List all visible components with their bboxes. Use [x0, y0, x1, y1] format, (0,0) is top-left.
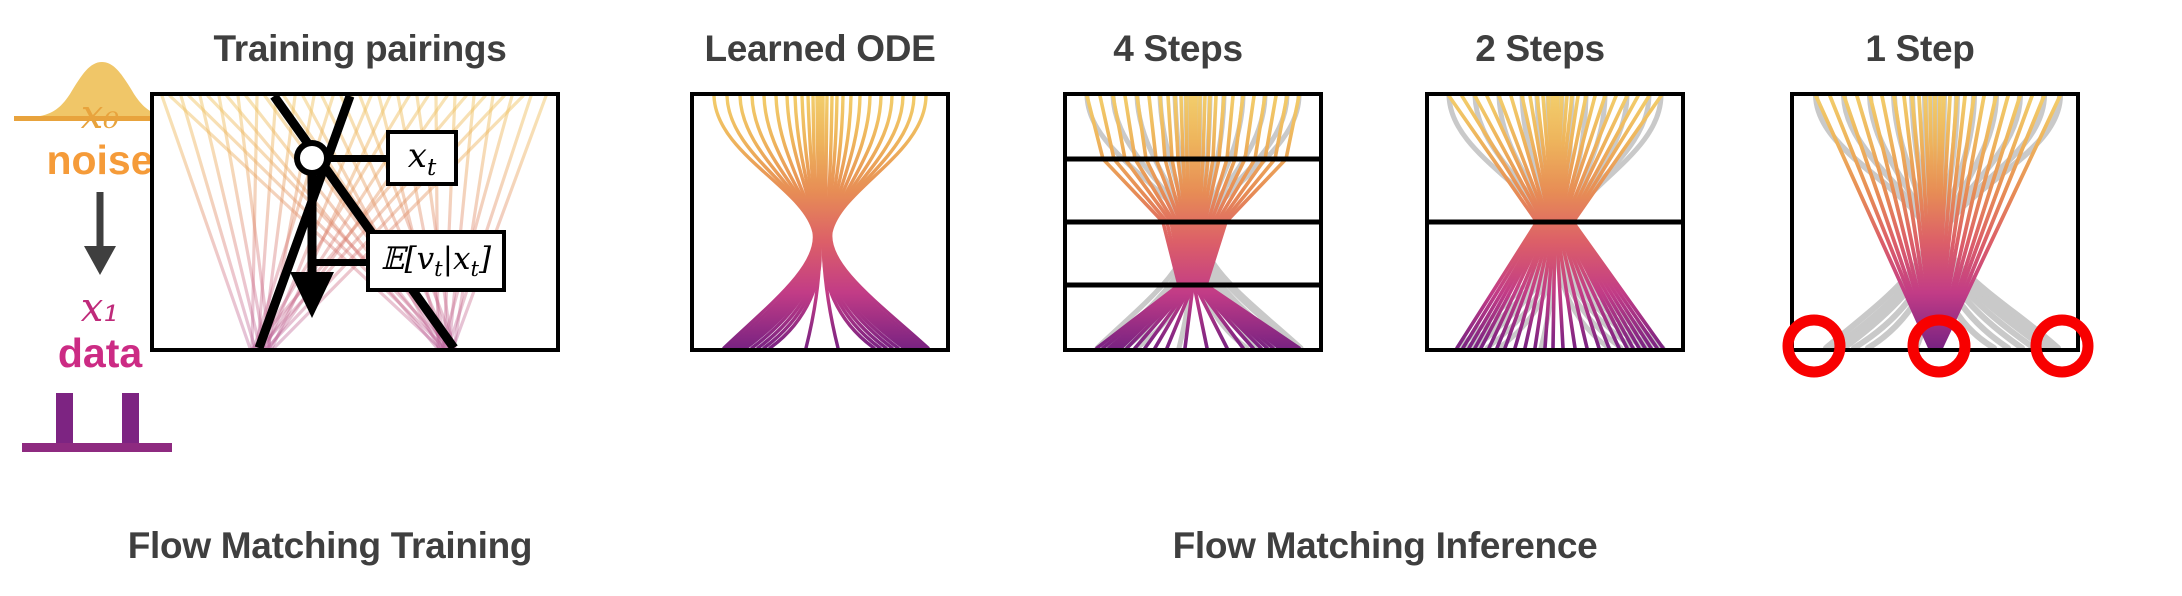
one-step-title: 1 Step — [1790, 28, 2050, 70]
two-mode-data-histogram — [12, 385, 192, 455]
xt-node-marker — [297, 143, 327, 173]
four-steps-title: 4 Steps — [1063, 28, 1293, 70]
learned-ode-plot — [690, 92, 950, 352]
xt-annotation-box: 𝑥𝑡 — [386, 130, 458, 186]
velocity-annotation-text: 𝔼[𝑣𝑡|𝑥𝑡] — [381, 241, 491, 281]
two-steps-plot — [1425, 92, 1685, 352]
red-circle-left-mode — [1788, 320, 1840, 372]
inference-section-caption: Flow Matching Inference — [690, 525, 2080, 567]
xt-connector-line — [324, 155, 390, 162]
two-steps-svg — [1429, 96, 1681, 348]
two-steps-title: 2 Steps — [1425, 28, 1655, 70]
four-steps-svg — [1067, 96, 1319, 348]
learned-ode-svg — [694, 96, 946, 348]
training-pairings-plot: 𝑥𝑡 𝔼[𝑣𝑡|𝑥𝑡] — [150, 92, 560, 352]
noise-to-data-arrow-icon — [70, 190, 130, 278]
red-circle-right-mode — [2036, 320, 2088, 372]
velocity-connector-line — [308, 259, 370, 266]
xt-annotation-text: 𝑥𝑡 — [408, 136, 436, 181]
learned-ode-title: Learned ODE — [690, 28, 950, 70]
training-section-caption: Flow Matching Training — [60, 525, 600, 567]
flow-matching-figure: x₀ noise x₁ data Training pairings — [0, 0, 2182, 596]
training-pairings-svg — [154, 96, 556, 348]
mode-collapse-markers — [1772, 300, 2102, 390]
training-panel-title: Training pairings — [150, 28, 570, 70]
red-circle-center-mode — [1913, 320, 1965, 372]
four-steps-plot — [1063, 92, 1323, 352]
velocity-annotation-box: 𝔼[𝑣𝑡|𝑥𝑡] — [366, 230, 506, 292]
